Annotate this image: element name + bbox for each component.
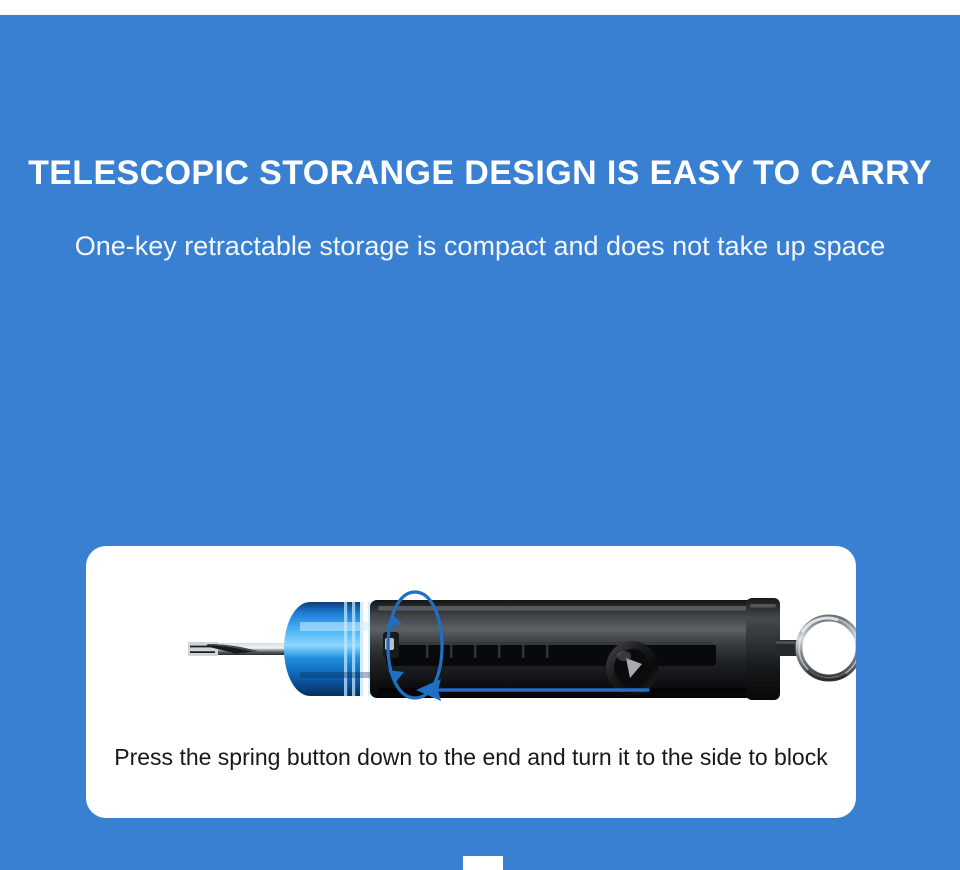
product-card-caption: Press the spring button down to the end …	[86, 744, 856, 771]
page-subtitle: One-key retractable storage is compact a…	[0, 228, 960, 264]
blue-collar-group	[284, 602, 372, 696]
page-root: TELESCOPIC STORANGE DESIGN IS EASY TO CA…	[0, 0, 960, 870]
page-title: TELESCOPIC STORANGE DESIGN IS EASY TO CA…	[0, 152, 960, 194]
top-white-strip	[0, 0, 960, 15]
bottom-white-tab	[463, 856, 503, 870]
key-ring-group	[776, 618, 856, 679]
product-image	[86, 546, 856, 746]
product-card: Press the spring button down to the end …	[86, 546, 856, 818]
spring-button-knob	[606, 641, 658, 695]
chrome-shaft-group	[188, 642, 294, 656]
